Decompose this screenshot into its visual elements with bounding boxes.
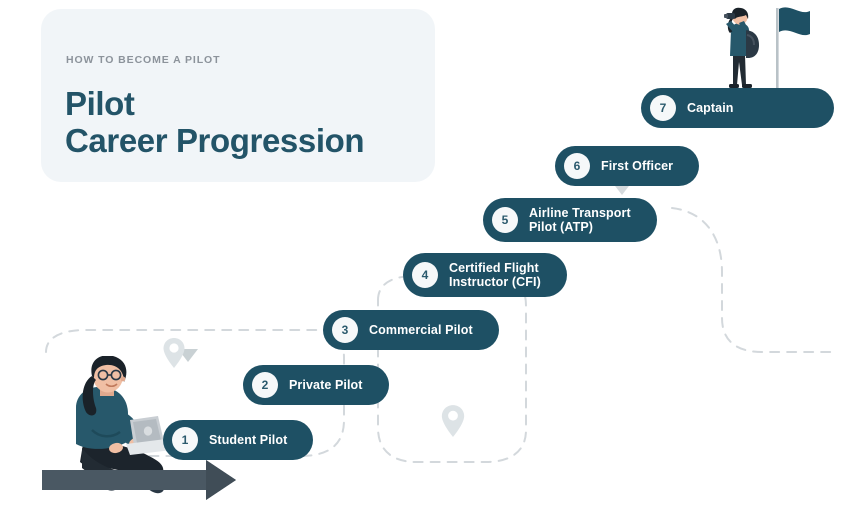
step-label: Commercial Pilot <box>369 323 473 337</box>
step-number-badge: 1 <box>172 427 198 453</box>
step-label: Private Pilot <box>289 378 363 392</box>
step-pill-4[interactable]: 4 Certified Flight Instructor (CFI) <box>403 253 567 297</box>
step-pill-5[interactable]: 5 Airline Transport Pilot (ATP) <box>483 198 657 242</box>
page-title-line-2: Career Progression <box>65 122 364 159</box>
step-pill-2[interactable]: 2 Private Pilot <box>243 365 389 405</box>
eyebrow-text: HOW TO BECOME A PILOT <box>66 54 220 66</box>
step-label: Student Pilot <box>209 433 287 447</box>
step-pill-1[interactable]: 1 Student Pilot <box>163 420 313 460</box>
step-pill-3[interactable]: 3 Commercial Pilot <box>323 310 499 350</box>
summit-illustration <box>700 2 830 97</box>
header-card: HOW TO BECOME A PILOT Pilot Career Progr… <box>41 9 435 182</box>
step-pill-7[interactable]: 7 Captain <box>641 88 834 128</box>
step-label: Certified Flight Instructor (CFI) <box>449 261 541 289</box>
step-label: Airline Transport Pilot (ATP) <box>529 206 631 234</box>
step-number-badge: 2 <box>252 372 278 398</box>
step-number-badge: 7 <box>650 95 676 121</box>
step-label: First Officer <box>601 159 673 173</box>
infographic-canvas: HOW TO BECOME A PILOT Pilot Career Progr… <box>0 0 866 511</box>
step-number-badge: 4 <box>412 262 438 288</box>
step-number-badge: 6 <box>564 153 590 179</box>
page-title: Pilot Career Progression <box>65 85 364 159</box>
step-number-badge: 3 <box>332 317 358 343</box>
map-pin-icon <box>440 404 466 438</box>
step-label: Captain <box>687 101 734 115</box>
step-pill-6[interactable]: 6 First Officer <box>555 146 699 186</box>
page-title-line-1: Pilot <box>65 85 364 122</box>
step-number-badge: 5 <box>492 207 518 233</box>
